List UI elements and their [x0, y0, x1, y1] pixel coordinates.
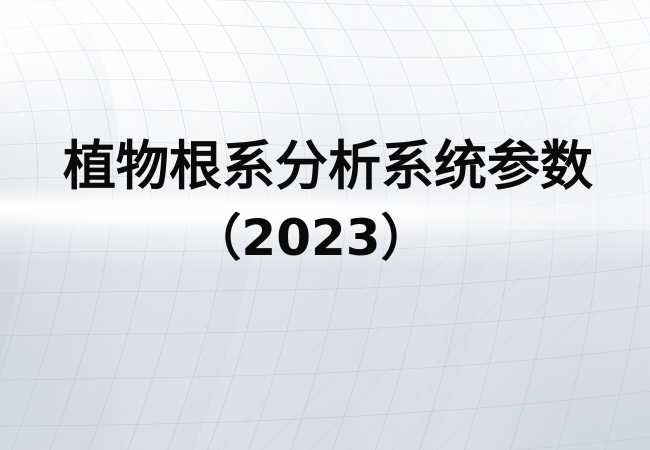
title-line-primary: 植物根系分析系统参数 [0, 140, 650, 193]
page-title: 植物根系分析系统参数 （2023） [0, 140, 650, 263]
title-line-year: （2023） [0, 213, 650, 263]
title-slide: 植物根系分析系统参数 （2023） [0, 0, 650, 450]
